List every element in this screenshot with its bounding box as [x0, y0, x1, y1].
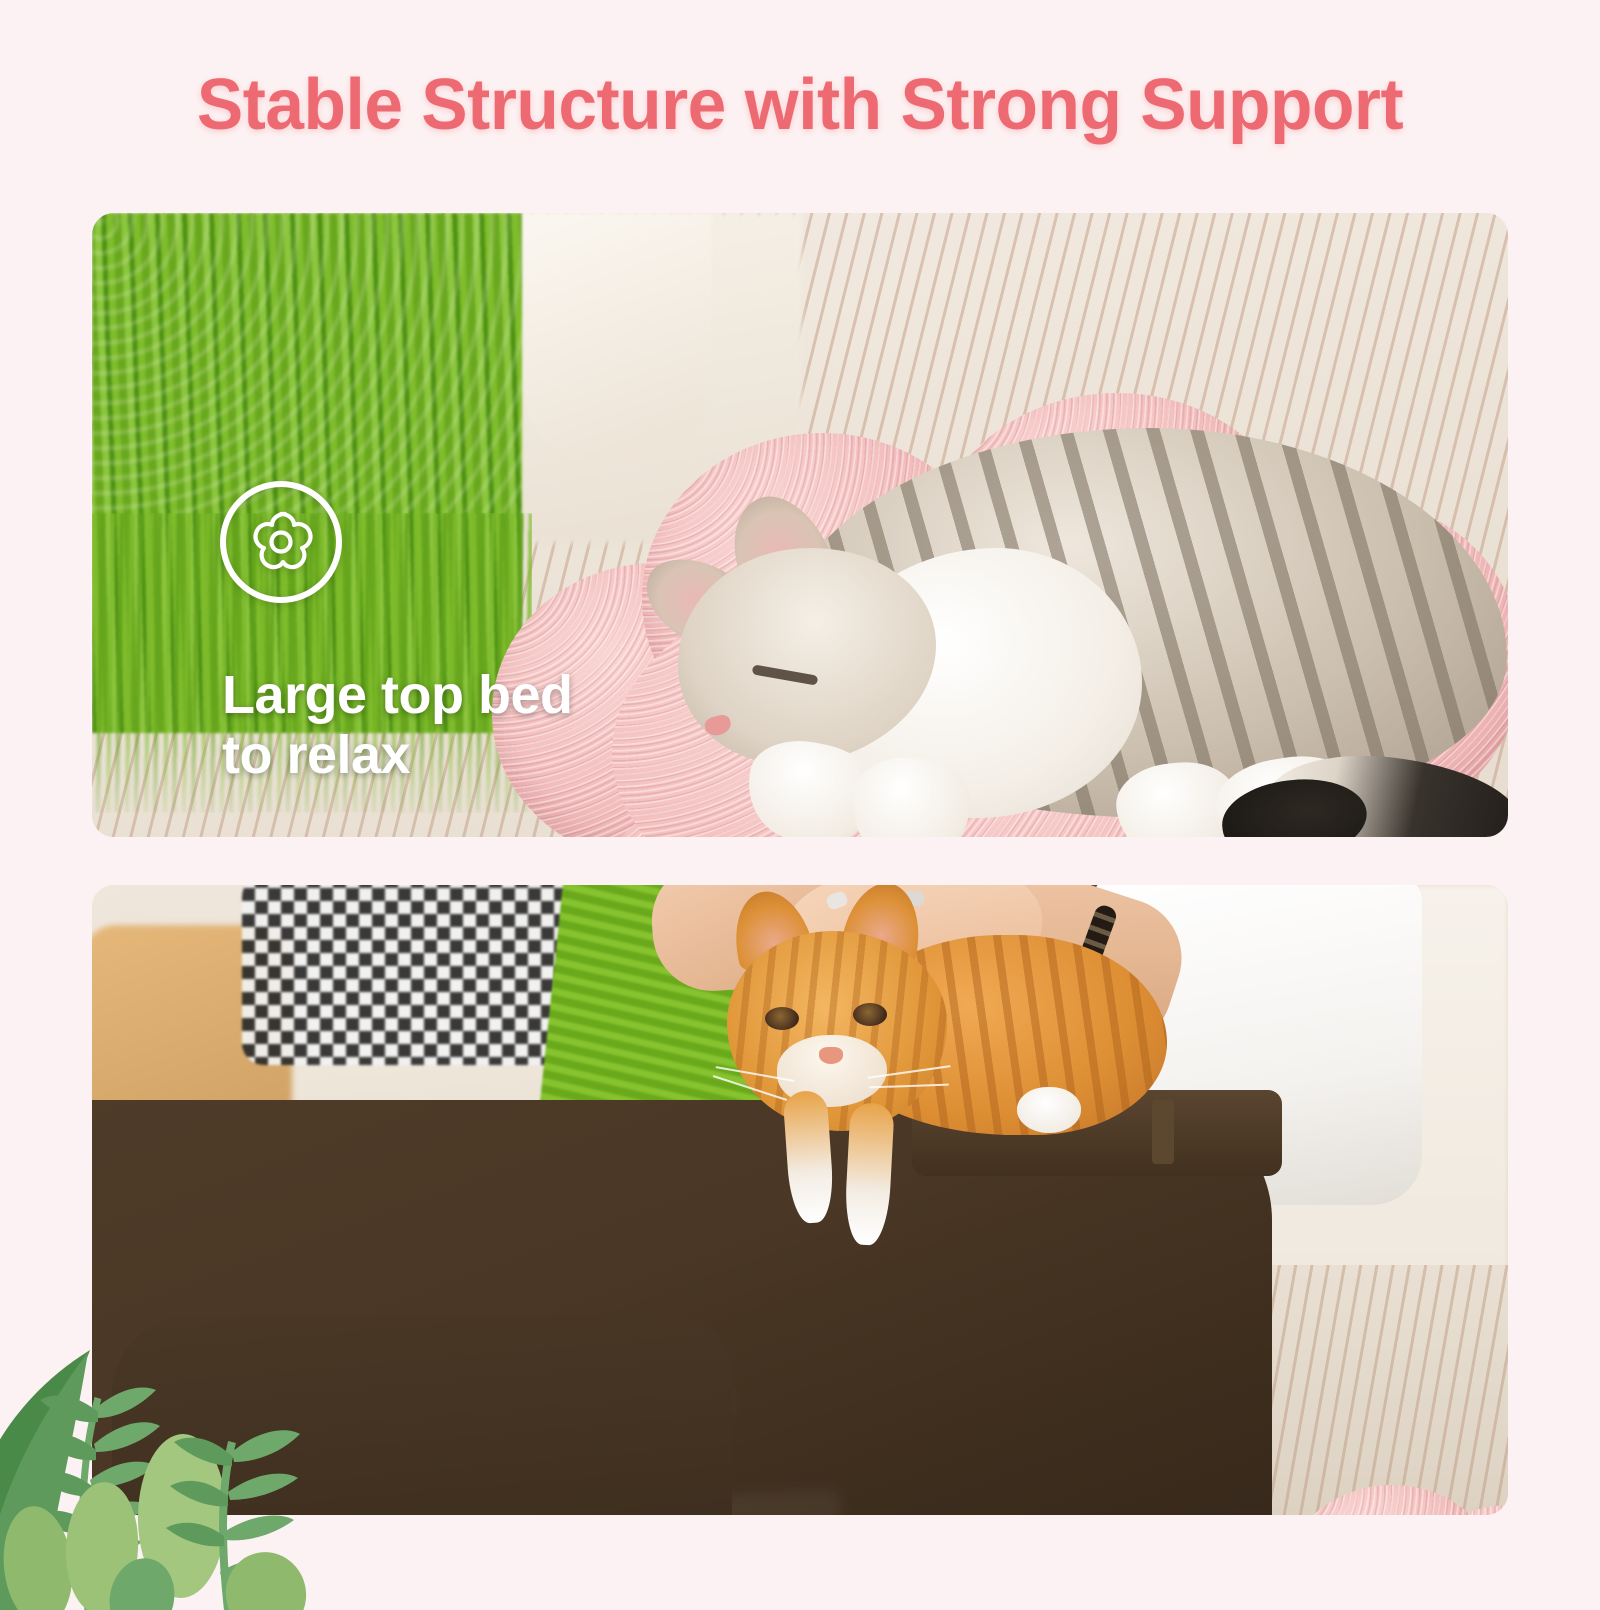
cat-front-leg: [782, 1090, 835, 1225]
page-title-bar: Stable Structure with Strong Support: [0, 68, 1600, 144]
sleeping-tabby-cat: [647, 428, 1508, 837]
blanket-knit-texture: [92, 213, 522, 513]
page-title: Stable Structure with Strong Support: [197, 68, 1403, 144]
cat-eye-left: [765, 1007, 799, 1030]
feature-panel-bottom: Can be a cute chair at home: [92, 885, 1508, 1515]
feature-caption-top: Large top bed to relax: [222, 665, 573, 786]
photo-woman-sitting-on-stool: [92, 885, 1508, 1515]
cat-front-leg: [843, 1102, 894, 1246]
feature-panel-top: Large top bed to relax: [92, 213, 1508, 837]
cat-back-paw: [1017, 1087, 1081, 1133]
cat-nose: [819, 1047, 843, 1064]
person-knee: [112, 1315, 732, 1515]
cat-eye-right: [853, 1003, 887, 1026]
flower-icon-badge: [220, 481, 342, 603]
stool-petal: [1287, 1485, 1497, 1515]
belt-loop: [1152, 1100, 1174, 1164]
flower-icon: [242, 503, 320, 581]
orange-tabby-cat: [727, 895, 1147, 1245]
